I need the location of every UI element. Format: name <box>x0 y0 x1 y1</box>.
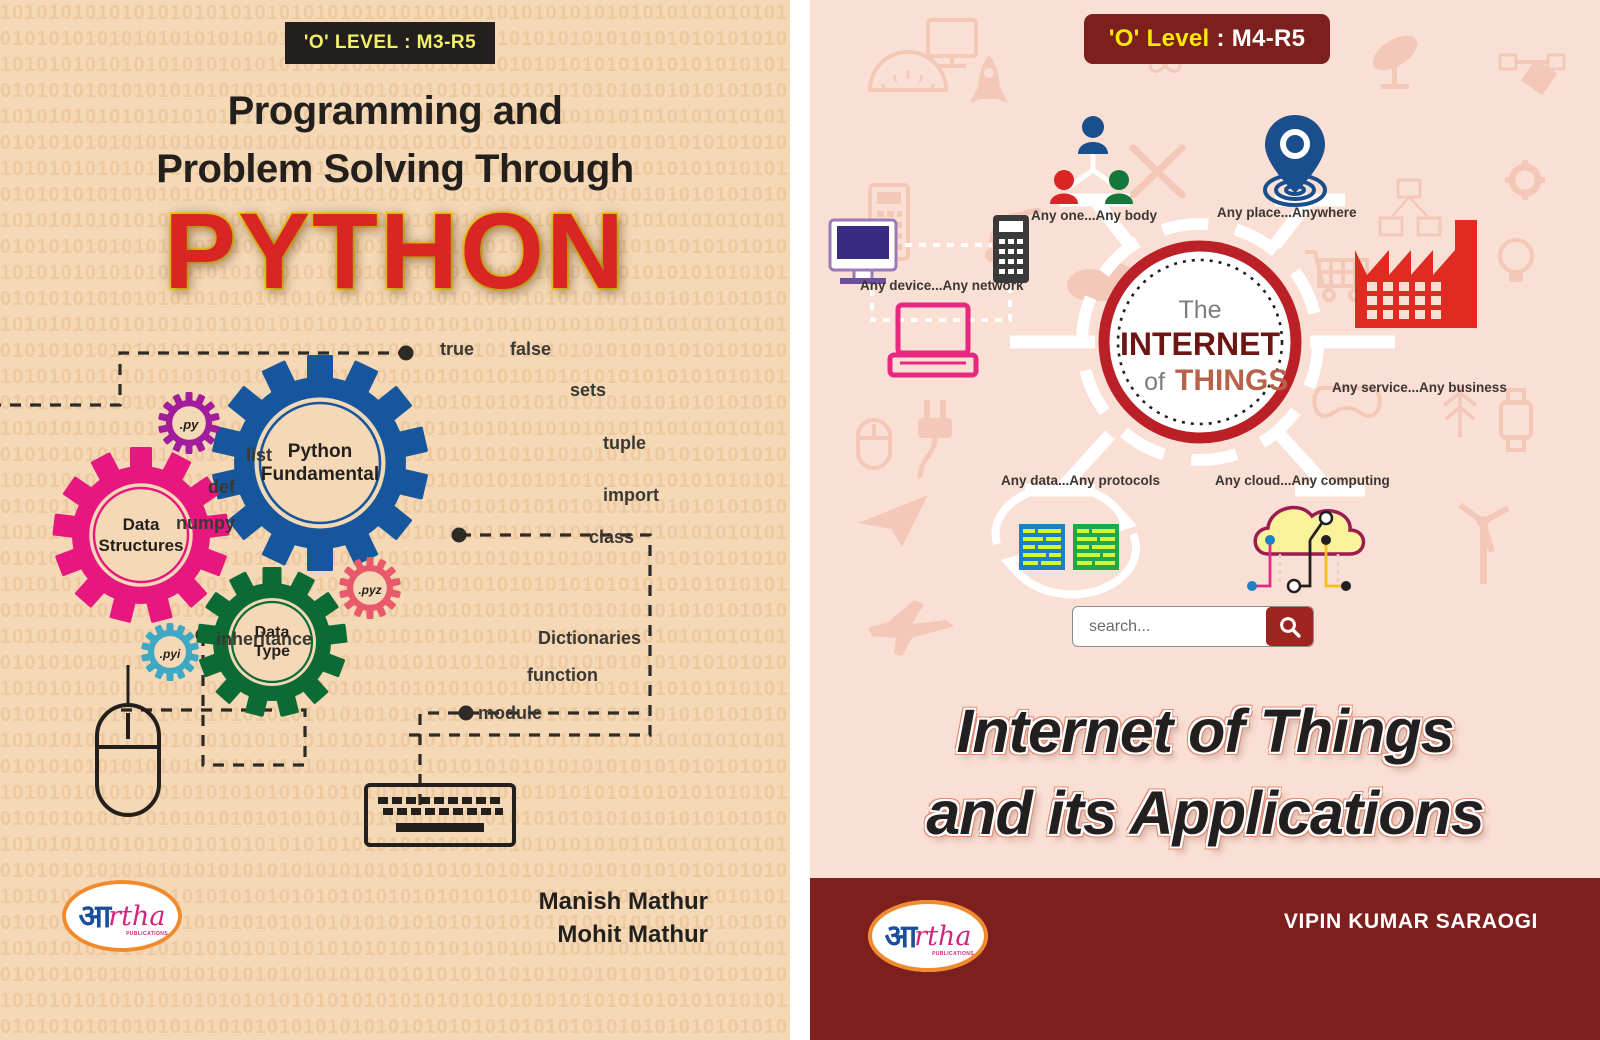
keyword-dictionaries: Dictionaries <box>538 628 641 649</box>
keyword-def: def <box>208 477 235 498</box>
right-author: VIPIN KUMAR SARAOGI <box>1284 910 1538 934</box>
keyword-false: false <box>510 339 551 360</box>
keyboard-icon <box>366 785 514 845</box>
hub-text-internet: INTERNET <box>1120 326 1280 362</box>
search-icon <box>1278 615 1302 639</box>
right-level-badge-highlight: 'O' Level <box>1109 25 1210 53</box>
keyword-inheritance: inheritance <box>216 629 312 650</box>
right-main-title: Internet of Things and its Applications <box>810 690 1600 854</box>
keyword-true: true <box>440 339 474 360</box>
location-pin-icon <box>1265 115 1325 205</box>
label-any-one-any-body: Any one...Any body <box>1031 208 1157 223</box>
device-network-icon <box>830 215 1029 375</box>
search-button[interactable] <box>1266 607 1313 646</box>
gear-label-py: .py <box>180 417 200 432</box>
keyword-import: import <box>603 485 659 506</box>
left-level-badge: 'O' LEVEL : M3-R5 <box>285 22 495 64</box>
label-any-data-any-protocols: Any data...Any protocols <box>1001 473 1160 488</box>
left-book-cover: 1010101010101010101010101010101010101010… <box>0 0 790 1040</box>
book-cover-spread: 1010101010101010101010101010101010101010… <box>0 0 1600 1040</box>
publisher-logo-right: आ rtha PUBLICATIONS <box>868 900 988 972</box>
hub-text-of: of <box>1144 368 1165 396</box>
cover-divider <box>790 0 810 1040</box>
data-protocols-icon <box>996 487 1137 595</box>
publisher-logo-tagline: PUBLICATIONS <box>126 931 168 937</box>
gear-label-data-structures-1: Data <box>123 515 160 534</box>
gear-pyz: .pyz <box>339 557 401 619</box>
connector-dot-top <box>399 346 414 361</box>
gear-label-python-fundamental-1: Python <box>288 441 352 462</box>
left-author-2: Mohit Mathur <box>539 918 708 951</box>
gear-diagram-svg: Python Fundamental Data Structures <box>0 335 790 865</box>
publisher-logo-left: आ rtha PUBLICATIONS <box>62 880 182 952</box>
left-main-title: PYTHON <box>0 196 790 306</box>
label-any-place-anywhere: Any place...Anywhere <box>1217 205 1357 220</box>
gear-label-pyz: .pyz <box>358 583 381 597</box>
iot-hub-diagram: The INTERNET of THINGS <box>810 70 1600 600</box>
publisher-logo-devanagari: आ <box>79 900 112 932</box>
search-bar[interactable]: search... <box>1072 606 1314 647</box>
hub-text-the: The <box>1178 296 1221 324</box>
label-any-cloud-any-computing: Any cloud...Any computing <box>1215 473 1390 488</box>
publisher-logo-latin: rtha <box>914 923 971 950</box>
factory-icon <box>1355 220 1477 328</box>
cloud-computing-icon <box>1247 507 1364 592</box>
publisher-logo-devanagari: आ <box>885 920 918 952</box>
connector-dot-module <box>459 706 474 721</box>
python-gear-diagram: Python Fundamental Data Structures <box>0 335 790 865</box>
right-title-line2: and its Applications <box>810 772 1600 854</box>
search-input[interactable]: search... <box>1073 618 1266 636</box>
left-level-badge-text: 'O' LEVEL : M3-R5 <box>304 32 476 54</box>
mouse-icon <box>97 665 159 815</box>
gear-py: .py <box>158 392 220 454</box>
left-subtitle-line1: Programming and <box>0 82 790 140</box>
people-icon <box>1050 116 1133 204</box>
gear-data-structures: Data Structures <box>52 447 229 623</box>
label-any-service-any-business: Any service...Any business <box>1332 380 1507 395</box>
gear-label-python-fundamental-2: Fundamental <box>261 464 379 485</box>
keyword-function: function <box>527 665 598 686</box>
gear-label-data-structures-2: Structures <box>98 536 183 555</box>
keyword-numpy: numpy <box>176 513 235 534</box>
keyword-class: class <box>589 527 634 548</box>
publisher-logo-tagline: PUBLICATIONS <box>932 951 974 957</box>
publisher-logo-latin: rtha <box>108 903 165 930</box>
left-subtitle: Programming and Problem Solving Through <box>0 82 790 198</box>
keyword-sets: sets <box>570 380 606 401</box>
right-level-badge-rest: : M4-R5 <box>1217 25 1306 53</box>
iot-hub-svg: The INTERNET of THINGS <box>810 70 1600 600</box>
gear-pyi: .pyi <box>141 623 199 681</box>
left-author-1: Manish Mathur <box>539 885 708 918</box>
right-level-badge: 'O' Level : M4-R5 <box>1084 14 1330 64</box>
connector-dot-right <box>452 528 467 543</box>
gear-label-pyi: .pyi <box>160 647 181 661</box>
label-any-device-any-network: Any device...Any network <box>860 278 1024 293</box>
right-book-cover: 'O' Level : M4-R5 <box>810 0 1600 1040</box>
gear-python-fundamental: Python Fundamental <box>212 355 428 571</box>
keyword-list: list <box>246 445 272 466</box>
right-title-line1: Internet of Things <box>810 690 1600 772</box>
keyword-module: module <box>478 703 542 724</box>
hub-text-things: THINGS <box>1175 364 1288 397</box>
right-footer-bar: आ rtha PUBLICATIONS VIPIN KUMAR SARAOGI <box>810 878 1600 1040</box>
left-authors: Manish Mathur Mohit Mathur <box>539 885 708 951</box>
keyword-tuple: tuple <box>603 433 646 454</box>
